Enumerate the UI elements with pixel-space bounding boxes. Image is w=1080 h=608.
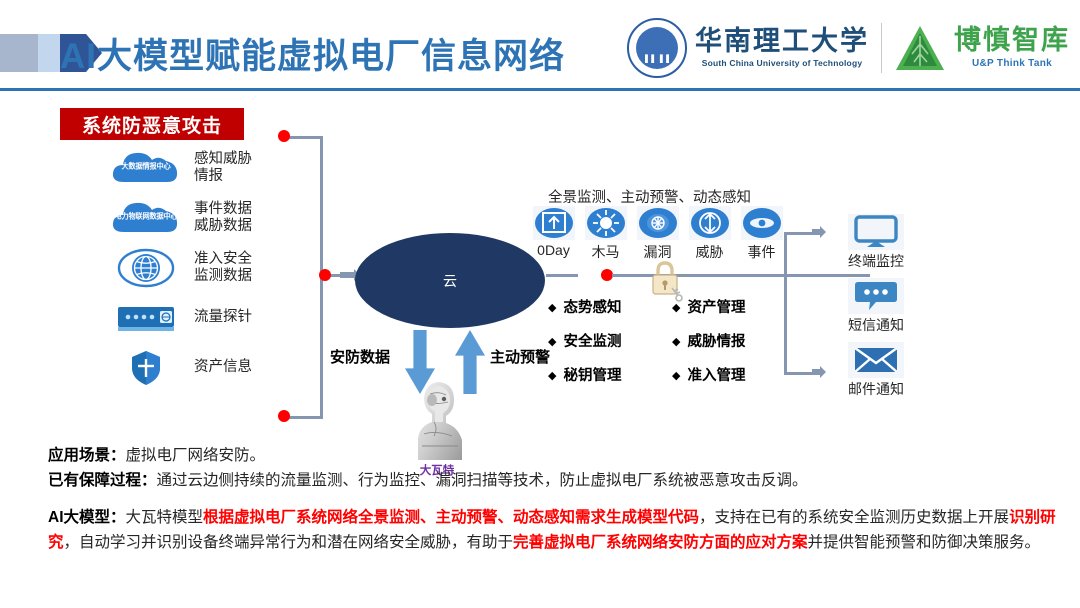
scut-name-en: South China University of Technology (702, 58, 863, 68)
cloud-icon: 电力物联网数据中心 (108, 196, 184, 240)
monitoring-icon-label: 威胁 (696, 242, 724, 262)
scut-name-cn: 华南理工大学 (695, 28, 869, 55)
label-line-2: 情报 (194, 168, 252, 185)
monitoring-icon-item[interactable]: 漏洞 (634, 206, 681, 262)
monitoring-icon-row: 0Day 木马 (530, 206, 785, 262)
label-line-1: 感知威胁 (194, 151, 252, 168)
bullet-right-2: 威胁情报 (672, 330, 745, 351)
bottom-line-1-text: 虚拟电厂网络安防。 (126, 447, 266, 464)
cloud-icon-label: 大数据情报中心 (110, 162, 182, 170)
header-divider (0, 88, 1080, 91)
server-icon (108, 296, 184, 340)
vulnerability-icon (637, 206, 679, 240)
scut-seal-icon (627, 18, 687, 78)
bottom-line-3-label: AI大模型： (48, 509, 126, 526)
bottom-line-3-d: 并提供智能预警和防御决策服务。 (808, 534, 1041, 551)
cloud-node-label: 云 (443, 271, 457, 291)
cloud-node[interactable]: 云 (355, 233, 545, 328)
mail-icon (848, 342, 904, 378)
list-item[interactable]: 大数据情报中心 感知威胁 情报 (108, 146, 308, 190)
uap-name-cn: 博慎智库 (954, 27, 1070, 54)
logo-divider (881, 23, 882, 73)
bottom-line-3-a: 大瓦特模型 (126, 509, 204, 526)
bottom-line-2-text: 通过云边侧持续的流量监测、行为监控、漏洞扫描等技术，防止虚拟电厂系统被恶意攻击反… (157, 472, 808, 489)
bottom-line-3-c: ，自动学习并识别设备终端异常行为和潜在网络安全威胁，有助于 (64, 534, 514, 551)
label-line-2: 威胁数据 (194, 218, 252, 235)
list-item-label: 流量探针 (194, 309, 252, 326)
event-icon (741, 206, 783, 240)
list-item-label: 短信通知 (848, 315, 904, 335)
connector-dot-bottom (278, 410, 290, 422)
slide-header: AI大模型赋能虚拟电厂信息网络 华南理工大学 South China Unive… (0, 0, 1080, 90)
monitoring-icon-item[interactable]: 木马 (582, 206, 629, 262)
shield-icon (108, 346, 184, 390)
list-item[interactable]: 流量探针 (108, 296, 308, 340)
monitoring-icon-label: 0Day (537, 242, 570, 258)
section-banner: 系统防恶意攻击 (60, 108, 244, 140)
sms-icon (848, 278, 904, 314)
zeroday-icon (533, 206, 575, 240)
bottom-line-3-b: ，支持在已有的系统安全监测历史数据上开展 (699, 509, 1009, 526)
bottom-line-2-label: 已有保障过程： (48, 472, 157, 489)
list-item[interactable]: 邮件通知 (824, 342, 928, 399)
page-title: AI大模型赋能虚拟电厂信息网络 (60, 24, 680, 82)
list-item-label: 感知威胁 情报 (194, 151, 252, 185)
list-item-label: 资产信息 (194, 359, 252, 376)
uap-triangle-icon (894, 24, 946, 72)
right-output-list: 终端监控 短信通知 邮件通知 (824, 214, 928, 406)
monitoring-title: 全景监测、主动预警、动态感知 (548, 186, 751, 207)
connector-dot-mid (319, 269, 331, 281)
bullet-left-3: 秘钥管理 (548, 364, 621, 385)
arrow-down-label: 安防数据 (330, 346, 390, 367)
label-line-1: 资产信息 (194, 359, 252, 376)
list-item[interactable]: 终端监控 (824, 214, 928, 271)
logo-group: 华南理工大学 South China University of Technol… (627, 12, 1070, 84)
list-item[interactable]: 资产信息 (108, 346, 308, 390)
monitoring-icon-label: 木马 (592, 242, 620, 262)
bottom-line-1-label: 应用场景： (48, 447, 126, 464)
list-item-label: 准入安全 监测数据 (194, 251, 252, 285)
label-line-2: 监测数据 (194, 268, 252, 285)
left-source-list: 大数据情报中心 感知威胁 情报 电力物联网数据中心 事件数据 威胁数据 (108, 146, 308, 396)
cloud-icon: 大数据情报中心 (108, 146, 184, 190)
monitor-icon (848, 214, 904, 250)
bullet-left-1: 态势感知 (548, 296, 621, 317)
bottom-line-3-red-3: 完善虚拟电厂系统网络安防方面的应对方案 (513, 534, 808, 551)
connector-dot-top (278, 130, 290, 142)
cloud-icon-label: 电力物联网数据中心 (110, 212, 182, 220)
bottom-line-3: AI大模型：大瓦特模型根据虚拟电厂系统网络全景监测、主动预警、动态感知需求生成模… (48, 505, 1068, 555)
chevron-block-gray (0, 34, 38, 72)
list-item-label: 邮件通知 (848, 379, 904, 399)
arrow-up-label: 主动预警 (490, 346, 550, 367)
bottom-line-2: 已有保障过程：通过云边侧持续的流量监测、行为监控、漏洞扫描等技术，防止虚拟电厂系… (48, 468, 1068, 493)
bottom-line-1: 应用场景：虚拟电厂网络安防。 (48, 443, 1068, 468)
slide: AI大模型赋能虚拟电厂信息网络 华南理工大学 South China Unive… (0, 0, 1080, 608)
globe-icon (108, 246, 184, 290)
label-line-1: 流量探针 (194, 309, 252, 326)
bullet-right-1: 资产管理 (672, 296, 745, 317)
threat-icon (689, 206, 731, 240)
monitoring-icon-label: 事件 (748, 242, 776, 262)
chevron-block-lightblue (38, 34, 60, 72)
right-bracket-vertical (784, 232, 787, 375)
monitoring-icon-item[interactable]: 威胁 (686, 206, 733, 262)
uap-name-en: U&P Think Tank (972, 58, 1052, 69)
cloud-right-line (546, 274, 578, 277)
bottom-line-3-red-1: 根据虚拟电厂系统网络全景监测、主动预警、动态感知需求生成模型代码 (203, 509, 699, 526)
monitoring-icon-item[interactable]: 0Day (530, 206, 577, 262)
list-item-label: 终端监控 (848, 251, 904, 271)
list-item[interactable]: 准入安全 监测数据 (108, 246, 308, 290)
bullet-left-2: 安全监测 (548, 330, 621, 351)
bullet-right-3: 准入管理 (672, 364, 745, 385)
list-item[interactable]: 电力物联网数据中心 事件数据 威胁数据 (108, 196, 308, 240)
monitoring-icon-item[interactable]: 事件 (738, 206, 785, 262)
label-line-1: 事件数据 (194, 201, 252, 218)
label-line-1: 准入安全 (194, 251, 252, 268)
list-item[interactable]: 短信通知 (824, 278, 928, 335)
list-item-label: 事件数据 威胁数据 (194, 201, 252, 235)
trojan-icon (585, 206, 627, 240)
